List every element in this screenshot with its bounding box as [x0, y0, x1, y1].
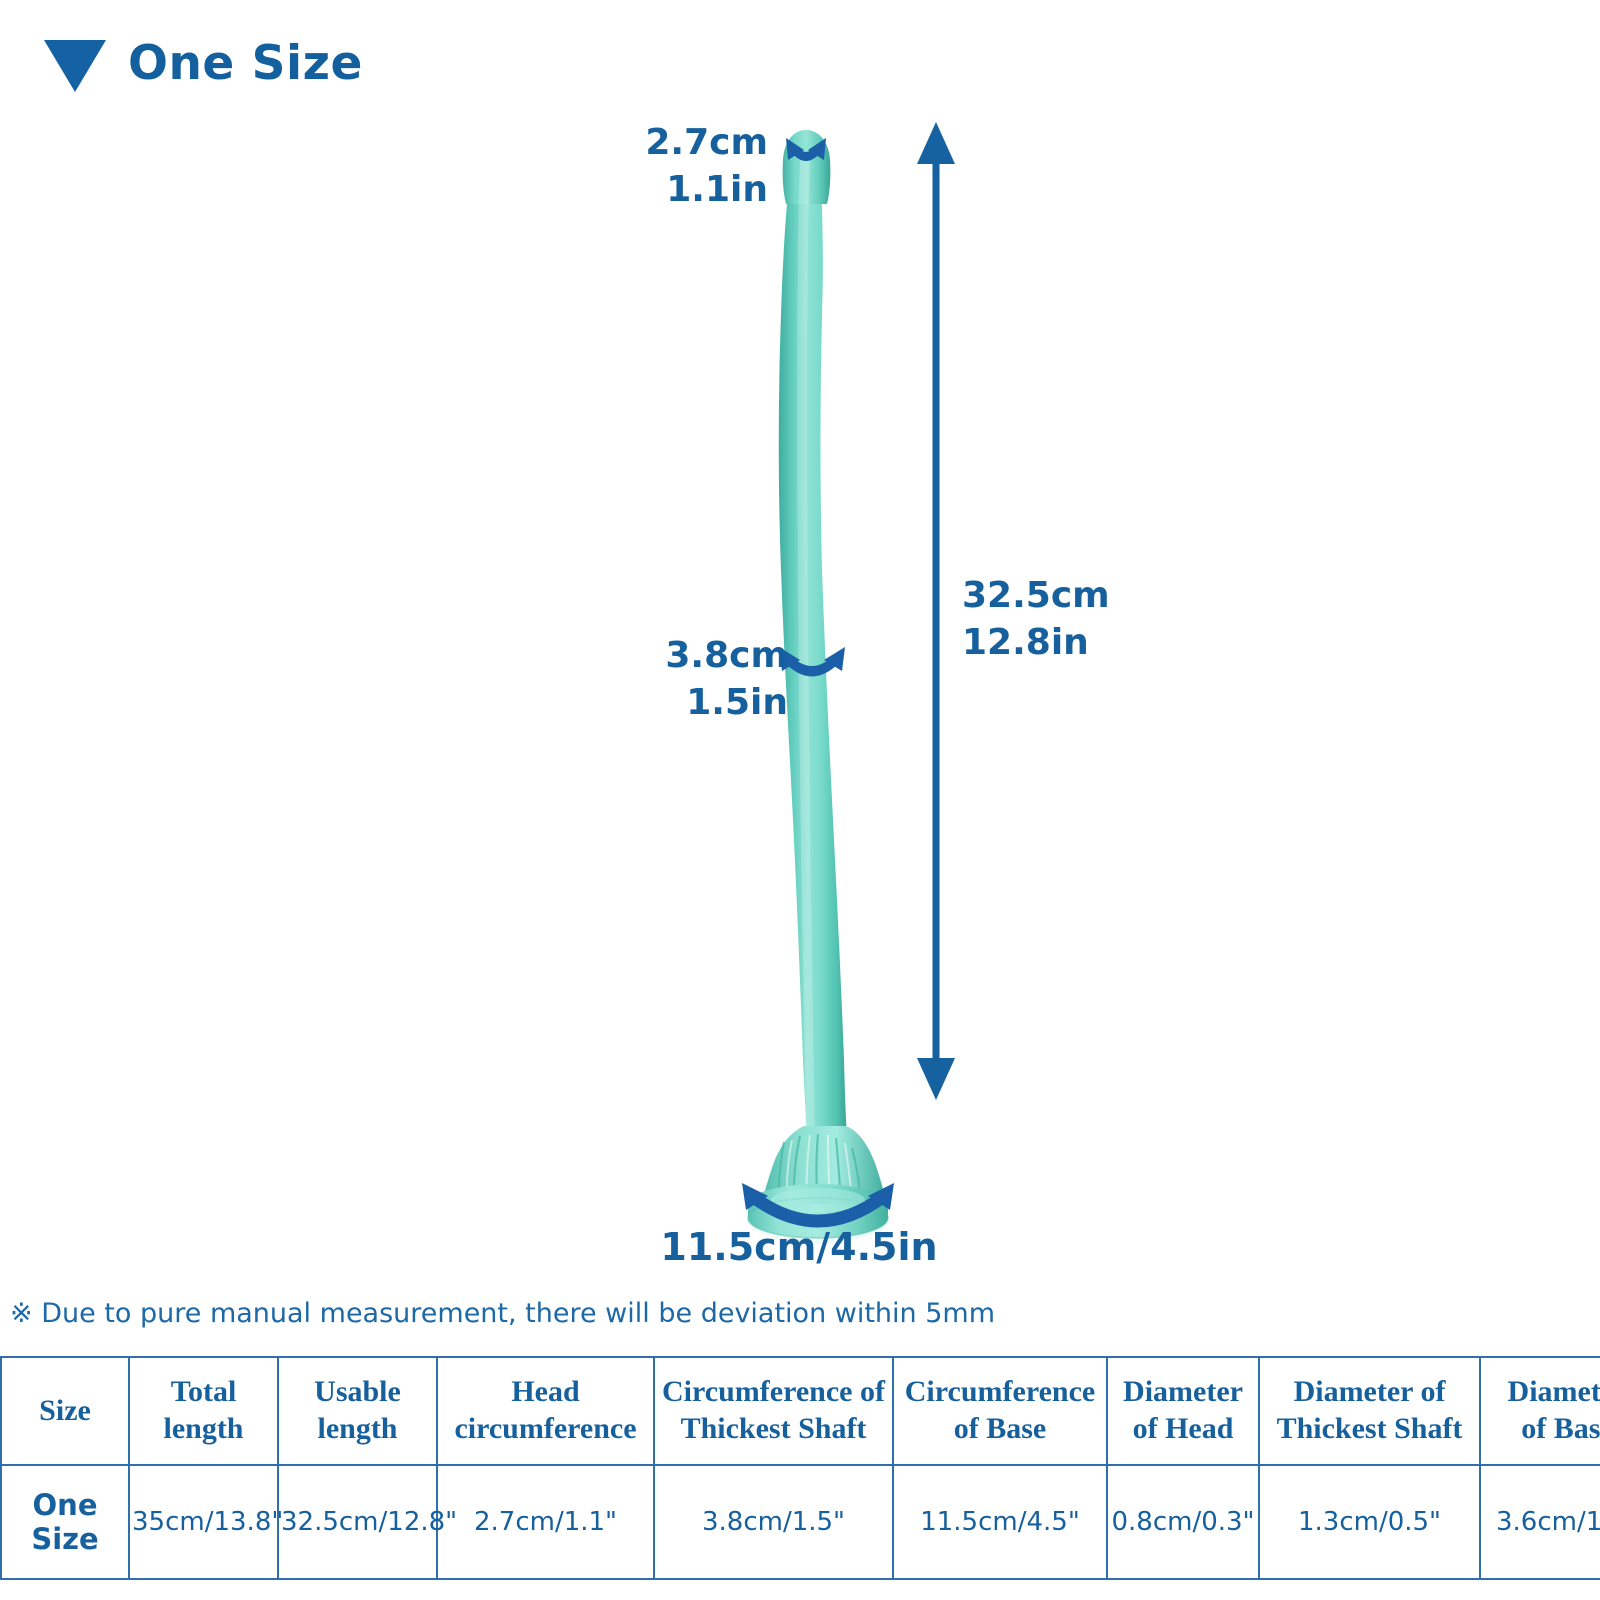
shaft-circumference-cm: 3.8cm [665, 633, 788, 680]
usable-length-label: 32.5cm 12.8in [962, 573, 1110, 667]
usable-length-cm: 32.5cm [962, 573, 1110, 620]
page-title: One Size [128, 36, 363, 91]
head-circumference-cm: 2.7cm [645, 120, 768, 167]
cell-circumference-thickest-shaft: 3.8cm/1.5" [654, 1465, 893, 1579]
header-size: Size [1, 1357, 129, 1465]
header-diameter-thickest-shaft: Diameter of Thickest Shaft [1259, 1357, 1480, 1465]
triangle-down-icon [44, 40, 106, 92]
base-circumference-arc-arrow [742, 1183, 894, 1228]
table-body: One Size 35cm/13.8" 32.5cm/12.8" 2.7cm/1… [1, 1465, 1600, 1579]
header-circumference-thickest-shaft: Circumference of Thickest Shaft [654, 1357, 893, 1465]
base-circumference-label: 11.5cm/4.5in [0, 1225, 1600, 1269]
head-circumference-in: 1.1in [645, 167, 768, 214]
measurement-note: ※ Due to pure manual measurement, there … [10, 1298, 995, 1329]
size-chart-table: Size Total length Usable length Head cir… [0, 1356, 1600, 1580]
cell-diameter-base: 3.6cm/1.4" [1480, 1465, 1600, 1579]
header-usable-length: Usable length [278, 1357, 437, 1465]
table-header-row: Size Total length Usable length Head cir… [1, 1357, 1600, 1465]
usable-length-arrow [917, 122, 955, 1100]
shaft-circumference-in: 1.5in [665, 680, 788, 727]
cell-usable-length: 32.5cm/12.8" [278, 1465, 437, 1579]
header-total-length: Total length [129, 1357, 278, 1465]
header-head-circumference: Head circumference [437, 1357, 654, 1465]
head-circumference-label: 2.7cm 1.1in [645, 120, 768, 214]
cell-diameter-head: 0.8cm/0.3" [1107, 1465, 1259, 1579]
product-diagram: 2.7cm 1.1in 3.8cm 1.5in 32.5cm 12.8in 11… [0, 100, 1600, 1300]
page-header: One Size [44, 34, 363, 92]
usable-length-in: 12.8in [962, 620, 1110, 667]
shaft-circumference-label: 3.8cm 1.5in [665, 633, 788, 727]
head-circumference-arc-arrow [786, 138, 826, 161]
table-header: Size Total length Usable length Head cir… [1, 1357, 1600, 1465]
cell-head-circumference: 2.7cm/1.1" [437, 1465, 654, 1579]
header-circumference-base: Circumference of Base [893, 1357, 1107, 1465]
header-diameter-head: Diameter of Head [1107, 1357, 1259, 1465]
cell-diameter-thickest-shaft: 1.3cm/0.5" [1259, 1465, 1480, 1579]
table-row: One Size 35cm/13.8" 32.5cm/12.8" 2.7cm/1… [1, 1465, 1600, 1579]
base-circumference-value: 11.5cm/4.5in [660, 1225, 937, 1269]
dimension-arrows [0, 100, 1600, 1300]
cell-total-length: 35cm/13.8" [129, 1465, 278, 1579]
cell-circumference-base: 11.5cm/4.5" [893, 1465, 1107, 1579]
cell-size: One Size [1, 1465, 129, 1579]
shaft-circumference-arc-arrow [779, 647, 845, 677]
header-diameter-base: Diameter of Base [1480, 1357, 1600, 1465]
